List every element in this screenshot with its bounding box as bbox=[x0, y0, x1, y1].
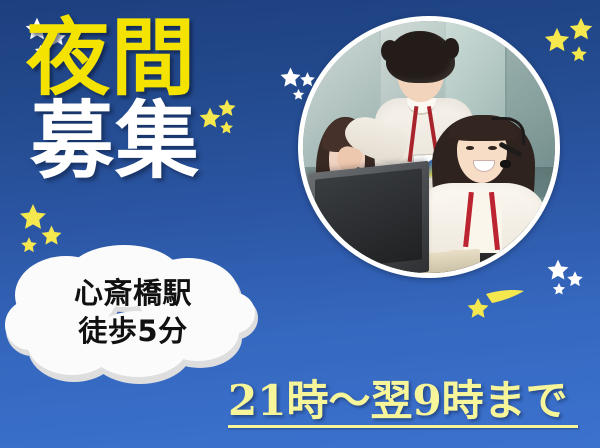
night-shift-recruitment-poster: 夜間 募集 bbox=[0, 0, 600, 448]
cloud-line-2: 徒歩5分 bbox=[4, 312, 262, 350]
monitor-screen bbox=[315, 168, 421, 270]
eye bbox=[466, 146, 475, 150]
team-photo-circle bbox=[298, 16, 560, 278]
curly-hair bbox=[386, 31, 455, 83]
operating-hours: 21時〜翌9時まで bbox=[228, 380, 588, 428]
headline-line-2: 募集 bbox=[30, 101, 200, 182]
headset-mic-icon bbox=[500, 160, 511, 168]
computer-monitor bbox=[308, 161, 429, 273]
operating-hours-text: 21時〜翌9時まで bbox=[228, 380, 588, 423]
star-yellow-icon bbox=[219, 120, 234, 135]
star-yellow-icon bbox=[568, 16, 594, 42]
operating-hours-underline bbox=[228, 425, 578, 428]
cloud-line-1: 心斎橋駅 bbox=[4, 274, 262, 312]
star-white-icon bbox=[566, 270, 584, 288]
cloud-callout: 心斎橋駅 徒歩5分 bbox=[4, 244, 262, 396]
star-yellow-icon bbox=[217, 98, 237, 118]
page-title: 夜間 募集 bbox=[26, 18, 200, 183]
shooting-star-icon bbox=[464, 288, 528, 328]
eye bbox=[488, 146, 497, 150]
team-photo bbox=[303, 21, 555, 273]
headline-line-1: 夜間 bbox=[26, 18, 200, 99]
cloud-callout-text: 心斎橋駅 徒歩5分 bbox=[4, 274, 262, 351]
star-yellow-icon bbox=[570, 45, 588, 63]
star-white-icon bbox=[552, 282, 566, 296]
operator-seated-foreground bbox=[426, 112, 552, 273]
headset-band-icon bbox=[492, 117, 525, 146]
